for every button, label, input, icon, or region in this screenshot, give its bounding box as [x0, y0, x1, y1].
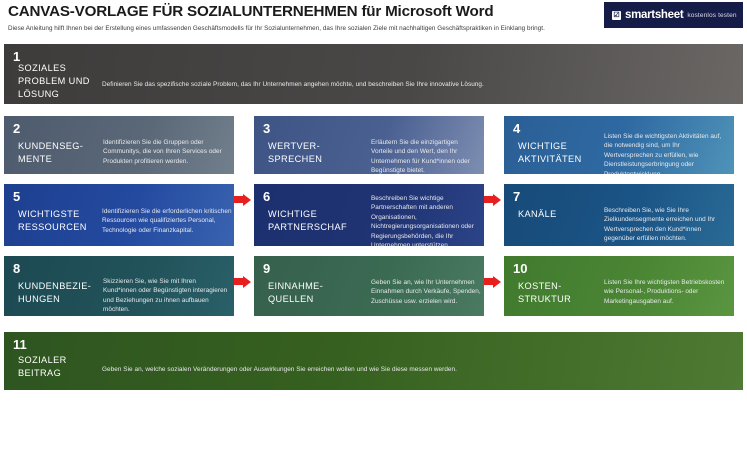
section-body: Identifizieren Sie die Gruppen oder Comm… — [103, 138, 229, 166]
canvas-section-4[interactable]: 4 WICHTIGE AKTIVITÄTEN Listen Sie die wi… — [504, 116, 734, 174]
canvas-grid: 1 SOZIALES PROBLEM UND LÖSUNG Definieren… — [0, 44, 747, 390]
smartsheet-logo-icon: ☑ — [612, 11, 621, 20]
section-number: 9 — [263, 262, 270, 275]
canvas-section-5[interactable]: 5 WICHTIGSTE RESSOURCEN Identifizieren S… — [4, 184, 234, 246]
section-heading: KANÄLE — [518, 208, 557, 221]
section-heading: WICHTIGSTE RESSOURCEN — [18, 208, 87, 234]
page-header: CANVAS-VORLAGE FÜR SOZIALUNTERNEHMEN für… — [0, 0, 747, 44]
canvas-section-6[interactable]: 6 WICHTIGE PARTNERSCHAF Beschreiben Sie … — [254, 184, 484, 246]
canvas-row-1: 1 SOZIALES PROBLEM UND LÖSUNG Definieren… — [0, 44, 747, 104]
section-number: 4 — [513, 122, 520, 135]
canvas-section-7[interactable]: 7 KANÄLE Beschreiben Sie, wie Sie Ihre Z… — [504, 184, 734, 246]
canvas-section-10[interactable]: 10 KOSTEN- STRUKTUR Listen Sie Ihre wich… — [504, 256, 734, 316]
section-number: 8 — [13, 262, 20, 275]
section-heading: SOZIALES PROBLEM UND LÖSUNG — [18, 62, 90, 101]
section-body: Identifizieren Sie die erforderlichen kr… — [102, 207, 232, 235]
brand-name: smartsheet — [625, 9, 683, 21]
canvas-section-3[interactable]: 3 WERTVER- SPRECHEN Erläutern Sie die ei… — [254, 116, 484, 174]
section-body: Erläutern Sie die einzigartigen Vorteile… — [371, 138, 481, 174]
canvas-row-2: 2 KUNDENSEG- MENTE Identifizieren Sie di… — [0, 116, 747, 174]
section-heading: KUNDENBEZIE- HUNGEN — [18, 280, 91, 306]
section-heading: WERTVER- SPRECHEN — [268, 140, 322, 166]
canvas-section-1[interactable]: 1 SOZIALES PROBLEM UND LÖSUNG Definieren… — [4, 44, 743, 104]
canvas-row-5: 11 SOZIALER BEITRAG Geben Sie an, welche… — [0, 332, 747, 390]
section-heading: KUNDENSEG- MENTE — [18, 140, 83, 166]
canvas-section-9[interactable]: 9 EINNAHME- QUELLEN Geben Sie an, wie Ih… — [254, 256, 484, 316]
section-number: 6 — [263, 190, 270, 203]
smartsheet-brand-badge[interactable]: ☑ smartsheet kostenlos testen — [604, 2, 743, 28]
section-body: Beschreiben Sie wichtige Partnerschaften… — [371, 194, 483, 246]
section-heading: SOZIALER BEITRAG — [18, 354, 67, 380]
section-number: 11 — [13, 338, 27, 351]
section-number: 2 — [13, 122, 20, 135]
page-title: CANVAS-VORLAGE FÜR SOZIALUNTERNEHMEN für… — [8, 3, 493, 20]
section-body: Skizzieren Sie, wie Sie mit Ihren Kund*i… — [103, 277, 231, 315]
section-number: 5 — [13, 190, 20, 203]
canvas-row-4: 8 KUNDENBEZIE- HUNGEN Skizzieren Sie, wi… — [0, 256, 747, 316]
canvas-row-3: 5 WICHTIGSTE RESSOURCEN Identifizieren S… — [0, 184, 747, 246]
canvas-section-2[interactable]: 2 KUNDENSEG- MENTE Identifizieren Sie di… — [4, 116, 234, 174]
section-body: Definieren Sie das spezifische soziale P… — [102, 80, 662, 89]
canvas-section-8[interactable]: 8 KUNDENBEZIE- HUNGEN Skizzieren Sie, wi… — [4, 256, 234, 316]
canvas-section-11[interactable]: 11 SOZIALER BEITRAG Geben Sie an, welche… — [4, 332, 743, 390]
section-body: Listen Sie die wichtigsten Aktivitäten a… — [604, 132, 730, 174]
page-subtitle: Diese Anleitung hilft Ihnen bei der Erst… — [8, 25, 545, 32]
section-number: 10 — [513, 262, 527, 275]
section-heading: WICHTIGE PARTNERSCHAF — [268, 208, 347, 234]
section-heading: KOSTEN- STRUKTUR — [518, 280, 571, 306]
section-body: Listen Sie Ihre wichtigsten Betriebskost… — [604, 278, 732, 306]
section-number: 7 — [513, 190, 520, 203]
brand-cta-label[interactable]: kostenlos testen — [687, 12, 736, 19]
canvas-page: CANVAS-VORLAGE FÜR SOZIALUNTERNEHMEN für… — [0, 0, 747, 453]
section-number: 3 — [263, 122, 270, 135]
section-heading: WICHTIGE AKTIVITÄTEN — [518, 140, 582, 166]
section-body: Geben Sie an, wie Ihr Unternehmen Einnah… — [371, 278, 483, 306]
section-body: Geben Sie an, welche sozialen Veränderun… — [102, 365, 662, 374]
section-body: Beschreiben Sie, wie Sie Ihre Zielkunden… — [604, 206, 730, 244]
section-heading: EINNAHME- QUELLEN — [268, 280, 323, 306]
